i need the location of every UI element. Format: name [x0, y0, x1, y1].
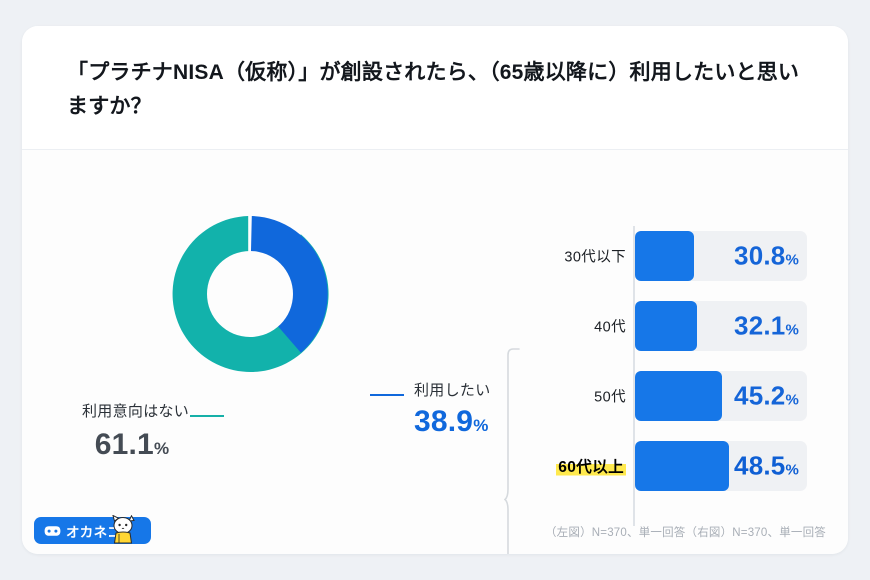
donut-value-no-intent: 61.1%	[82, 428, 182, 462]
bar-value-40s-unit: %	[785, 322, 799, 339]
donut-value-want-to-use-unit: %	[473, 416, 488, 435]
donut-value-want-to-use: 38.9%	[414, 405, 491, 439]
bar-fill-40s	[635, 301, 697, 351]
donut-value-want-to-use-number: 38.9	[414, 405, 473, 438]
donut-value-no-intent-unit: %	[154, 439, 169, 458]
donut-hole	[207, 251, 293, 337]
bar-label-30s: 30代以下	[564, 246, 626, 267]
cat-mascot-icon	[110, 515, 136, 545]
infinity-icon	[44, 525, 61, 537]
bar-label-60s: 60代以上	[556, 455, 626, 477]
bar-row-30s: 30代以下 30.8%	[512, 229, 848, 283]
bar-fill-30s	[635, 231, 694, 281]
bar-fill-60s	[635, 441, 729, 491]
bar-value-60s-number: 48.5	[734, 451, 785, 481]
donut-label-want-to-use: 利用したい 38.9%	[414, 379, 491, 439]
bar-track-50s: 45.2%	[635, 371, 807, 421]
bar-row-50s: 50代 45.2%	[512, 369, 848, 423]
bar-value-30s: 30.8%	[734, 241, 799, 272]
donut-label-no-intent: 利用意向はない 61.1%	[82, 400, 182, 462]
bar-value-40s-number: 32.1	[734, 311, 785, 341]
bar-value-50s: 45.2%	[734, 381, 799, 412]
bar-value-50s-unit: %	[785, 392, 799, 409]
card-header: 「プラチナNISA（仮称）」が創設されたら、（65歳以降に）利用したいと思います…	[22, 26, 848, 150]
bar-value-60s-unit: %	[785, 462, 799, 479]
bar-track-40s: 32.1%	[635, 301, 807, 351]
bar-row-40s: 40代 32.1%	[512, 299, 848, 353]
donut-chart: 利用したい 38.9% 利用意向はない 61.1%	[22, 151, 502, 554]
bar-track-30s: 30.8%	[635, 231, 807, 281]
bar-value-50s-number: 45.2	[734, 381, 785, 411]
bar-label-40s: 40代	[594, 316, 626, 337]
donut-value-no-intent-number: 61.1	[95, 428, 154, 461]
bar-row-60s: 60代以上 48.5%	[512, 439, 848, 493]
source-note: （左図）N=370、単一回答（右図）N=370、単一回答	[545, 524, 826, 540]
leader-line-want-to-use	[370, 394, 404, 396]
bar-fill-50s	[635, 371, 722, 421]
leader-line-no-intent	[190, 415, 224, 417]
survey-card: 「プラチナNISA（仮称）」が創設されたら、（65歳以降に）利用したいと思います…	[22, 26, 848, 554]
bar-chart: 30代以下 30.8% 40代 32.1% 50代	[512, 151, 848, 554]
bar-track-60s: 48.5%	[635, 441, 807, 491]
bar-value-30s-number: 30.8	[734, 241, 785, 271]
donut-label-no-intent-text: 利用意向はない	[82, 400, 182, 421]
donut-label-want-to-use-text: 利用したい	[414, 379, 491, 400]
bar-value-60s: 48.5%	[734, 451, 799, 482]
bar-value-40s: 32.1%	[734, 311, 799, 342]
bar-value-30s-unit: %	[785, 252, 799, 269]
card-body: 利用したい 38.9% 利用意向はない 61.1% 30代以下	[22, 151, 848, 554]
page-title: 「プラチナNISA（仮称）」が創設されたら、（65歳以降に）利用したいと思います…	[67, 56, 807, 124]
donut-chart-svg	[162, 206, 338, 382]
bar-label-50s: 50代	[594, 386, 626, 407]
